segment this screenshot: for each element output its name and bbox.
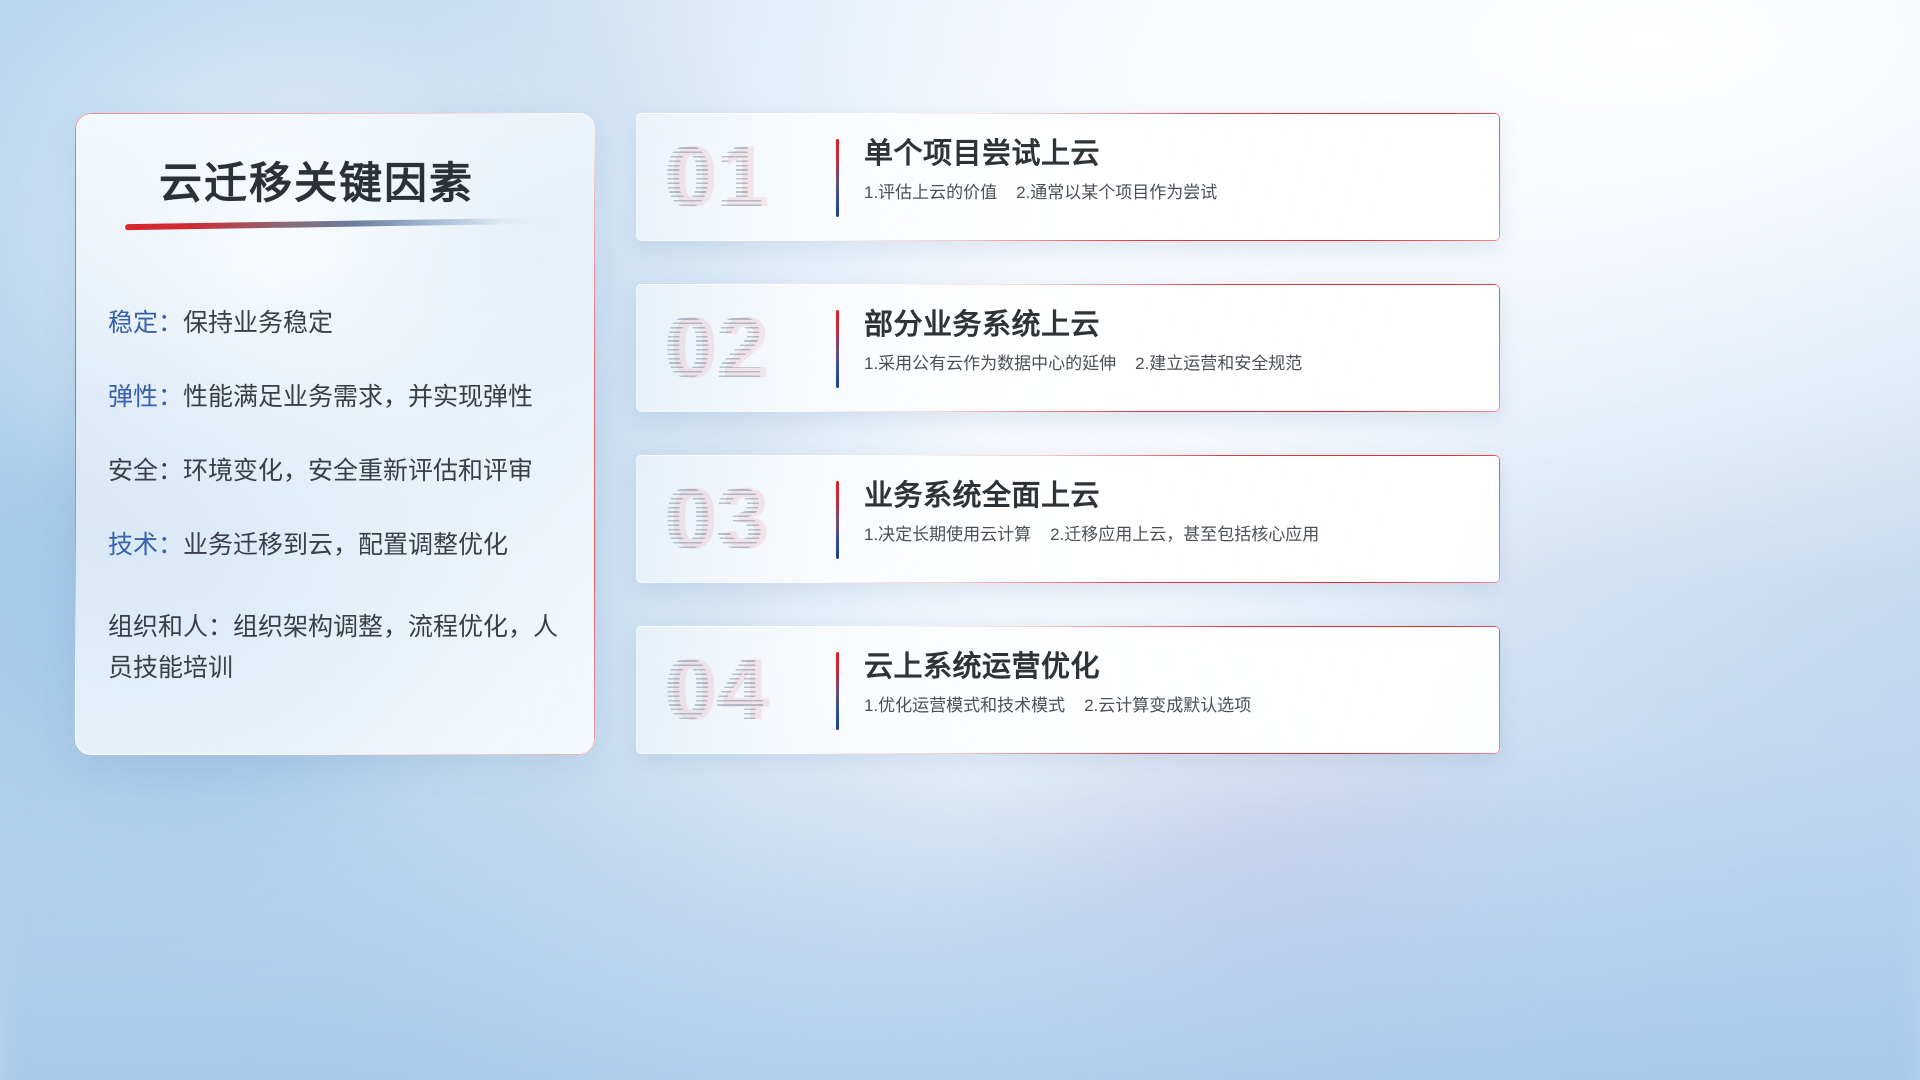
key-factors-list: 稳定：保持业务稳定 弹性：性能满足业务需求，并实现弹性 安全：环境变化，安全重新… (108, 311, 571, 737)
factor-value: 保持业务稳定 (183, 309, 333, 337)
stage-card-04[interactable]: 04 04 云上系统运营优化 1.优化运营模式和技术模式 2.云计算变成默认选项 (636, 626, 1500, 754)
factor-label: 组织和人： (108, 613, 233, 641)
stage-card-body: 部分业务系统上云 1.采用公有云作为数据中心的延伸 2.建立运营和安全规范 (864, 308, 1474, 375)
list-item: 安全：环境变化，安全重新评估和评审 (108, 459, 571, 484)
factor-label: 稳定： (108, 309, 183, 337)
stage-title: 业务系统全面上云 (864, 479, 1474, 513)
stage-number-graphic: 03 03 (636, 455, 846, 583)
list-item: 技术：业务迁移到云，配置调整优化 (108, 533, 571, 558)
stage-number: 01 (664, 134, 768, 220)
list-item: 组织和人：组织架构调整，流程优化，人员技能培训 (108, 607, 571, 688)
key-factors-panel-inner: 云迁移关键因素 稳定：保持业务稳定 弹性：性能满足业务需求，并实现弹性 安全：环… (75, 113, 595, 755)
accent-divider-icon (836, 481, 839, 559)
factor-value: 环境变化，安全重新评估和评审 (183, 457, 533, 485)
page-title: 云迁移关键因素 (159, 149, 474, 211)
stage-title: 云上系统运营优化 (864, 650, 1474, 684)
factor-value: 业务迁移到云，配置调整优化 (183, 531, 508, 559)
accent-divider-icon (836, 310, 839, 388)
stage-card-03[interactable]: 03 03 业务系统全面上云 1.决定长期使用云计算 2.迁移应用上云，甚至包括… (636, 455, 1500, 583)
stage-card-01[interactable]: 01 01 单个项目尝试上云 1.评估上云的价值 2.通常以某个项目作为尝试 (636, 113, 1500, 241)
list-item: 弹性：性能满足业务需求，并实现弹性 (108, 385, 571, 410)
stage-description: 1.决定长期使用云计算 2.迁移应用上云，甚至包括核心应用 (864, 524, 1474, 546)
list-item: 稳定：保持业务稳定 (108, 311, 571, 336)
stage-card-body: 业务系统全面上云 1.决定长期使用云计算 2.迁移应用上云，甚至包括核心应用 (864, 479, 1474, 546)
stage-number: 02 (664, 305, 768, 391)
stage-card-body: 云上系统运营优化 1.优化运营模式和技术模式 2.云计算变成默认选项 (864, 650, 1474, 717)
accent-divider-icon (836, 139, 839, 217)
stage-number-graphic: 01 01 (636, 113, 846, 241)
factor-label: 弹性： (108, 383, 183, 411)
stage-card-02[interactable]: 02 02 部分业务系统上云 1.采用公有云作为数据中心的延伸 2.建立运营和安… (636, 284, 1500, 412)
stage-description: 1.优化运营模式和技术模式 2.云计算变成默认选项 (864, 695, 1474, 717)
title-underline-accent (125, 218, 535, 230)
stage-title: 单个项目尝试上云 (864, 137, 1474, 171)
migration-stage-cards: 01 01 单个项目尝试上云 1.评估上云的价值 2.通常以某个项目作为尝试 0… (636, 113, 1500, 754)
stage-number: 04 (664, 647, 768, 733)
stage-description: 1.评估上云的价值 2.通常以某个项目作为尝试 (864, 182, 1474, 204)
stage-description: 1.采用公有云作为数据中心的延伸 2.建立运营和安全规范 (864, 353, 1474, 375)
stage-title: 部分业务系统上云 (864, 308, 1474, 342)
stage-number: 03 (664, 476, 768, 562)
key-factors-panel: 云迁移关键因素 稳定：保持业务稳定 弹性：性能满足业务需求，并实现弹性 安全：环… (75, 113, 595, 755)
factor-value: 性能满足业务需求，并实现弹性 (183, 383, 533, 411)
factor-label: 技术： (108, 531, 183, 559)
factor-label: 安全： (108, 457, 183, 485)
slide-stage: 云迁移关键因素 稳定：保持业务稳定 弹性：性能满足业务需求，并实现弹性 安全：环… (0, 0, 1920, 1080)
stage-card-body: 单个项目尝试上云 1.评估上云的价值 2.通常以某个项目作为尝试 (864, 137, 1474, 204)
stage-number-graphic: 04 04 (636, 626, 846, 754)
stage-number-graphic: 02 02 (636, 284, 846, 412)
accent-divider-icon (836, 652, 839, 730)
